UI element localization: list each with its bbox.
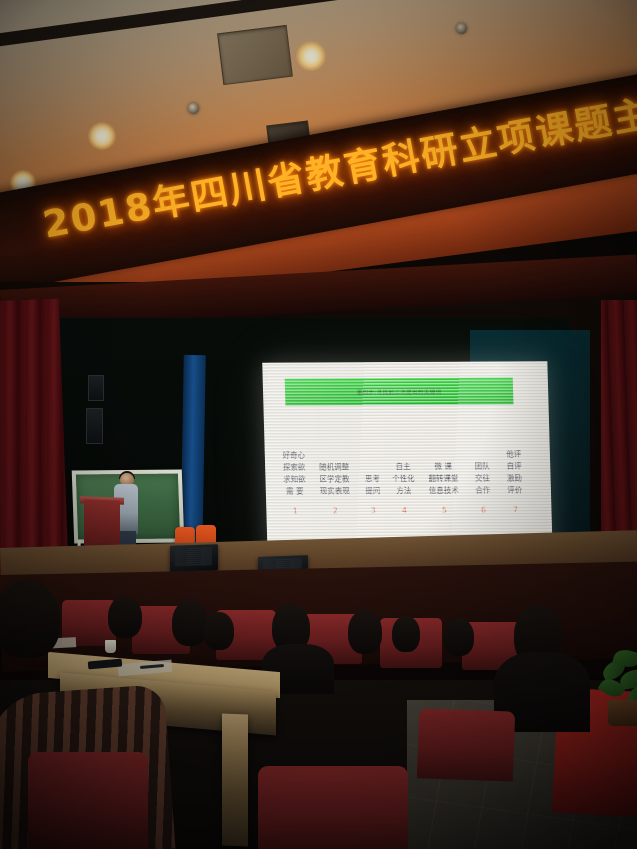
slide-content: 第四步:寻找前二次提出的关键词 好奇心 他评 探索欲 随机调整 自主 xyxy=(262,361,553,557)
table-row: 需 要 现实表现 提问 方法 信息技术 合作 评价 xyxy=(278,483,540,496)
speaker-grill xyxy=(175,547,212,566)
table-row: 求知欲 区学定教 思考 个性化 翻转课堂 交往 激励 xyxy=(277,471,539,484)
paper-cup xyxy=(105,640,116,653)
audience-head xyxy=(204,612,234,650)
auditorium-photo: 2018年四川省教育科研立项课题主研人员培训会 第四步:寻找前二次提出的关键词 … xyxy=(0,0,637,849)
table-cell: 区学定教 xyxy=(311,473,357,484)
number-cell: 5 xyxy=(420,505,468,514)
table-cell: 现实表现 xyxy=(312,485,358,496)
table-row: 探索欲 随机调整 自主 微 课 团队 自评 xyxy=(277,459,539,472)
wall-speaker xyxy=(88,375,104,401)
table-cell: 激励 xyxy=(497,472,531,483)
audience-head xyxy=(108,596,142,638)
front-seat-back xyxy=(258,766,408,849)
slide-title-bar: 第四步:寻找前二次提出的关键词 xyxy=(285,377,514,405)
table-cell: 他评 xyxy=(497,448,531,459)
table-cell: 需 要 xyxy=(278,485,312,496)
number-cell: 6 xyxy=(468,505,498,514)
ceiling-spotlight xyxy=(296,41,326,71)
number-cell: 3 xyxy=(358,506,388,515)
table-cell: 个性化 xyxy=(387,472,419,483)
table-cell: 合作 xyxy=(468,484,498,495)
table-cell: 好奇心 xyxy=(277,449,311,460)
table-cell: 求知欲 xyxy=(277,473,311,484)
front-seat-back xyxy=(28,752,148,849)
audience-head xyxy=(444,618,474,656)
number-cell: 4 xyxy=(388,505,420,514)
slide-title-text: 第四步:寻找前二次提出的关键词 xyxy=(357,387,442,395)
table-cell: 翻转课堂 xyxy=(419,472,467,483)
table-cell: 信息技术 xyxy=(420,484,468,495)
table-cell: 随机调整 xyxy=(311,461,357,472)
desk-leg xyxy=(222,714,248,847)
table-row: 好奇心 他评 xyxy=(277,447,539,460)
plant-pot xyxy=(608,700,637,726)
front-seat-back xyxy=(417,708,515,781)
number-cell: 1 xyxy=(278,506,312,515)
slide-keyword-table: 好奇心 他评 探索欲 随机调整 自主 微 课 团队 自评 xyxy=(277,447,541,516)
ceiling-sprinkler xyxy=(456,23,467,34)
number-cell: 7 xyxy=(498,505,532,514)
number-cell: 2 xyxy=(312,506,358,515)
audience-head xyxy=(348,610,382,654)
projection-screen: 第四步:寻找前二次提出的关键词 好奇心 他评 探索欲 随机调整 自主 xyxy=(262,361,553,557)
table-cell: 评价 xyxy=(498,484,532,495)
audience-head xyxy=(172,600,208,646)
table-cell: 提问 xyxy=(358,485,388,496)
ceiling-vent xyxy=(217,25,293,85)
table-cell: 微 课 xyxy=(419,460,467,471)
table-cell: 思考 xyxy=(357,473,387,484)
foreground-attendee-head xyxy=(0,580,60,658)
table-cell: 团队 xyxy=(467,460,497,471)
table-cell: 自主 xyxy=(387,460,419,471)
table-cell: 探索欲 xyxy=(277,461,311,472)
audience-head xyxy=(392,616,420,652)
floor-monitor-speaker xyxy=(170,544,218,572)
table-cell: 自评 xyxy=(497,460,531,471)
table-row-numbers: 1 2 3 4 5 6 7 xyxy=(278,503,540,516)
table-cell: 交往 xyxy=(467,472,497,483)
table-cell: 方法 xyxy=(388,484,420,495)
wall-speaker xyxy=(86,408,103,444)
